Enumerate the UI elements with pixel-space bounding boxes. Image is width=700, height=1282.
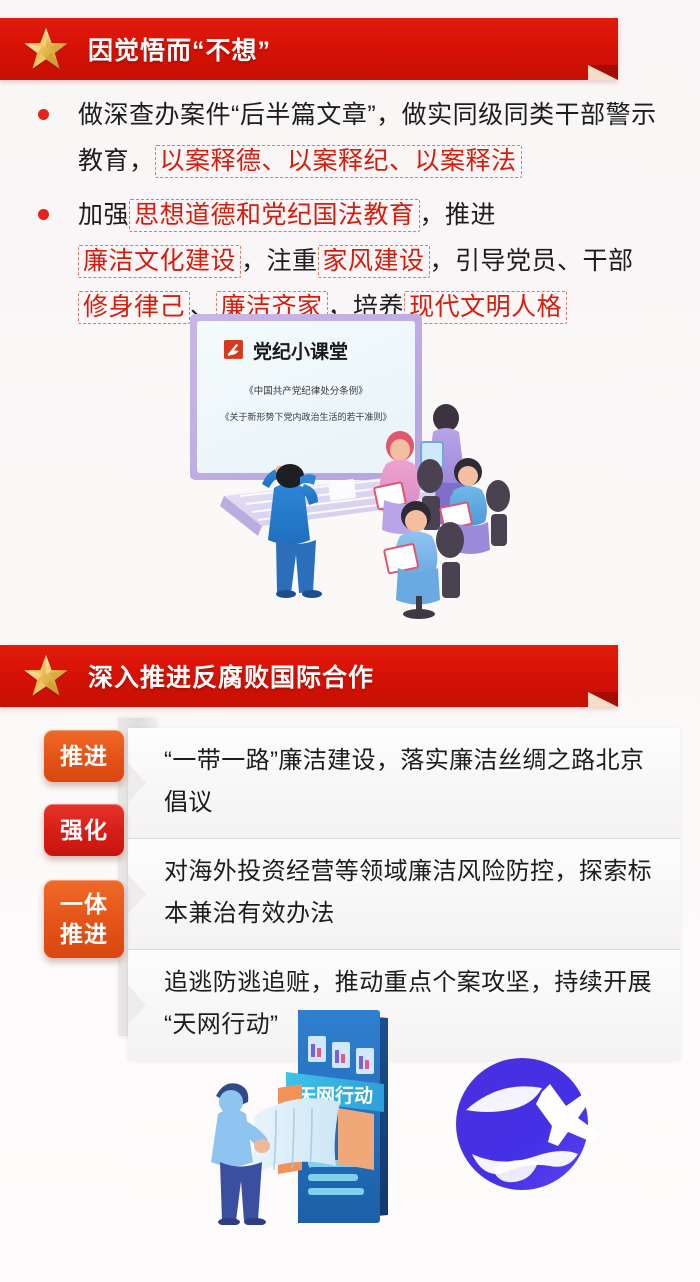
classroom-screen-title: 党纪小课堂 xyxy=(253,340,348,363)
skynet-operation-illustration: 天网行动 xyxy=(198,1010,618,1225)
bullet-1-highlight-1: 以案释德、以案释纪、以案释法 xyxy=(155,145,522,178)
tag-yiti-tuijin-line1: 一体 xyxy=(44,889,124,919)
bullet-item-1: 做深查办案件“后半篇文章”，做实同级同类干部警示教育，以案释德、以案释纪、以案释… xyxy=(0,92,700,184)
cooperation-tags: 推进 强化 一体 推进 xyxy=(44,730,134,980)
instructor-figure xyxy=(262,464,322,598)
globe-airplane-icon xyxy=(456,1058,600,1190)
section-title-2: 深入推进反腐败国际合作 xyxy=(88,658,374,694)
cooperation-card-1: “一带一路”廉洁建设，落实廉洁丝绸之路北京倡议 xyxy=(128,728,680,839)
bullet-2-plain-3: ，注重 xyxy=(241,247,318,275)
cooperation-card-2: 对海外投资经营等领域廉洁风险防控，探索标本兼治有效办法 xyxy=(128,839,680,950)
cooperation-list: “一带一路”廉洁建设，落实廉洁丝绸之路北京倡议 对海外投资经营等领域廉洁风险防控… xyxy=(0,718,700,1038)
classroom-screen-line-2: 《关于新形势下党内政治生活的若干准则》 xyxy=(220,411,391,422)
bullet-text-1: 做深查办案件“后半篇文章”，做实同级同类干部警示教育，以案释德、以案释纪、以案释… xyxy=(78,92,682,184)
red-dot-bullet-icon xyxy=(38,109,49,120)
cooperation-card-1-text: “一带一路”廉洁建设，落实廉洁丝绸之路北京倡议 xyxy=(164,740,654,824)
banner-fold-corner xyxy=(588,65,618,80)
cooperation-card-2-text: 对海外投资经营等领域廉洁风险防控，探索标本兼治有效办法 xyxy=(164,851,654,935)
gold-star-icon xyxy=(22,652,70,700)
classroom-screen-line-1: 《中国共产党纪律处分条例》 xyxy=(244,385,368,397)
section-banner-2: 深入推进反腐败国际合作 xyxy=(0,645,618,707)
presentation-screen: 党纪小课堂 《中国共产党纪律处分条例》 《关于新形势下党内政治生活的若干准则》 xyxy=(190,314,422,480)
tag-qianghua[interactable]: 强化 xyxy=(44,804,124,856)
banner-fold-corner xyxy=(588,692,618,707)
party-emblem-icon xyxy=(224,340,243,359)
tag-tuijin[interactable]: 推进 xyxy=(44,730,124,782)
bullet-2-highlight-4: 修身律己 xyxy=(78,291,190,324)
tag-yiti-tuijin[interactable]: 一体 推进 xyxy=(44,880,124,958)
bullet-2-plain-1: 加强 xyxy=(78,201,129,229)
bullet-2-highlight-3: 家风建设 xyxy=(318,245,430,278)
red-dot-bullet-icon xyxy=(38,209,49,220)
gold-star-icon xyxy=(22,25,70,73)
section-banner-1: 因觉悟而“不想” xyxy=(0,18,618,80)
bullet-2-highlight-1: 思想道德和党纪国法教育 xyxy=(129,199,420,232)
card-notch-icon xyxy=(128,985,146,1025)
section-title-1: 因觉悟而“不想” xyxy=(88,31,271,67)
bullet-2-highlight-2: 廉洁文化建设 xyxy=(78,245,241,278)
tag-yiti-tuijin-line2: 推进 xyxy=(44,919,124,949)
bullet-2-plain-2: ，推进 xyxy=(420,201,497,229)
infographic-page: 因觉悟而“不想” 做深查办案件“后半篇文章”，做实同级同类干部警示教育，以案释德… xyxy=(0,0,700,1282)
bullet-2-plain-4: ，引导党员、干部 xyxy=(430,247,634,275)
party-discipline-classroom-illustration: 党纪小课堂 《中国共产党纪律处分条例》 《关于新形势下党内政治生活的若干准则》 xyxy=(178,300,518,620)
